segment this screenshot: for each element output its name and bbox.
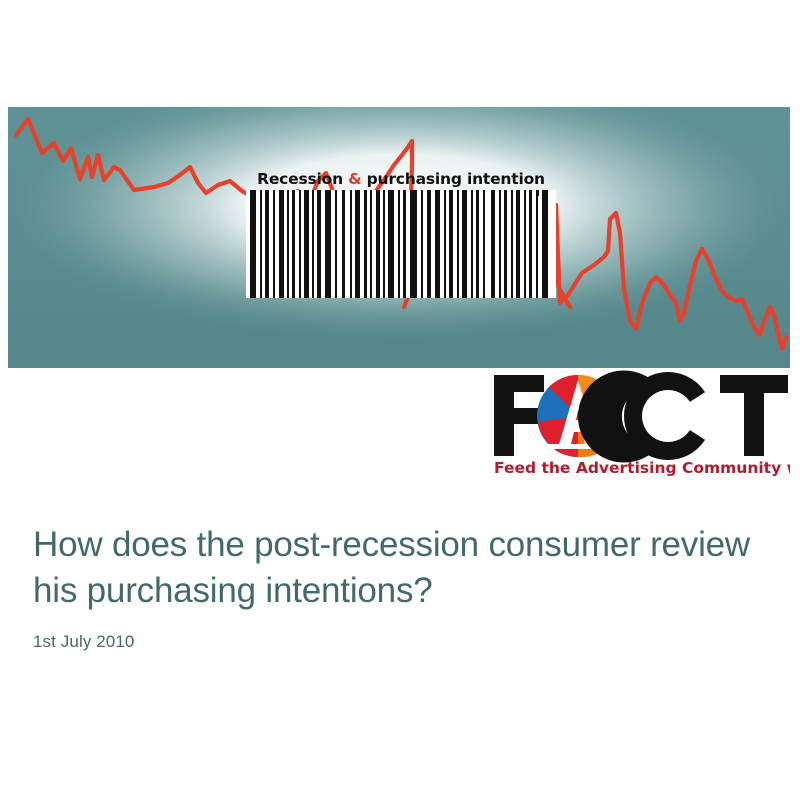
barcode-graphic: Recession & purchasing intention — [246, 166, 556, 298]
barcode-bars — [246, 190, 556, 298]
fact-logo: Feed the Advertising Community with Tren… — [492, 370, 790, 478]
logo-letter-t — [720, 375, 788, 456]
fact-logo-graphic: Feed the Advertising Community with Tren… — [492, 370, 790, 478]
barcode-title-text: Recession & purchasing intention — [246, 166, 556, 192]
hero-banner: Recession & purchasing intention — [8, 107, 790, 368]
presentation-date: 1st July 2010 — [33, 614, 763, 652]
barcode-title-suffix: purchasing intention — [361, 170, 544, 188]
barcode-title-ampersand: & — [348, 170, 361, 188]
page-title: How does the post-recession consumer rev… — [33, 522, 763, 614]
title-block: How does the post-recession consumer rev… — [33, 522, 763, 652]
barcode-title-prefix: Recession — [257, 170, 348, 188]
logo-tagline: Feed the Advertising Community with Tren… — [494, 459, 790, 477]
logo-letter-f — [494, 375, 544, 456]
